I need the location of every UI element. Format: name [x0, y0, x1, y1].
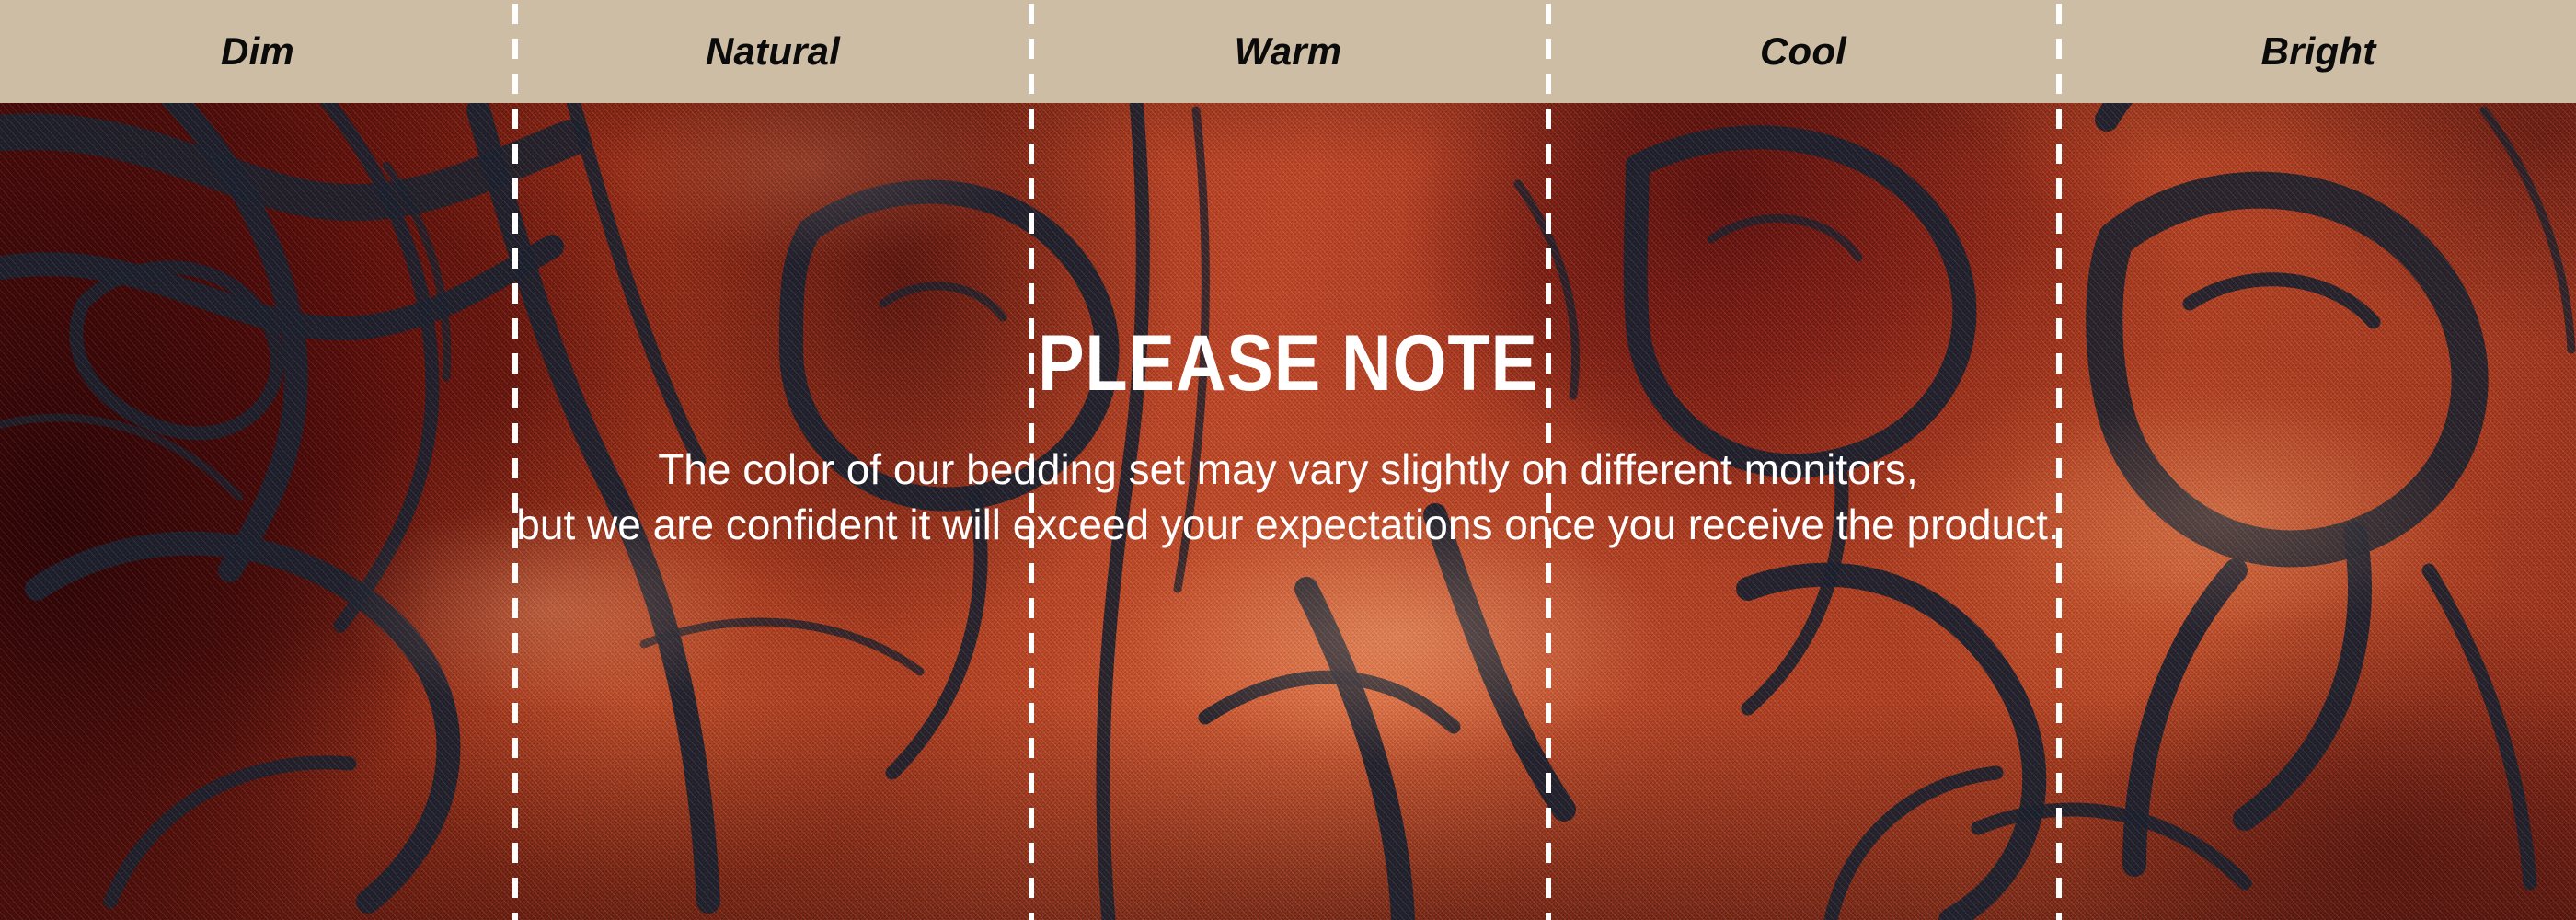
fabric-background — [0, 0, 2576, 920]
lighting-label-cool: Cool — [1546, 29, 2061, 74]
lighting-label-bar: Dim Natural Warm Cool Bright — [0, 0, 2576, 103]
lighting-label-bright: Bright — [2061, 29, 2576, 74]
lighting-label-dim: Dim — [0, 29, 515, 74]
lighting-label-warm: Warm — [1030, 29, 1546, 74]
lighting-label-natural: Natural — [515, 29, 1030, 74]
banner-root: Dim Natural Warm Cool Bright PLEASE NOTE… — [0, 0, 2576, 920]
fabric-sheen-highlights — [0, 0, 2576, 920]
